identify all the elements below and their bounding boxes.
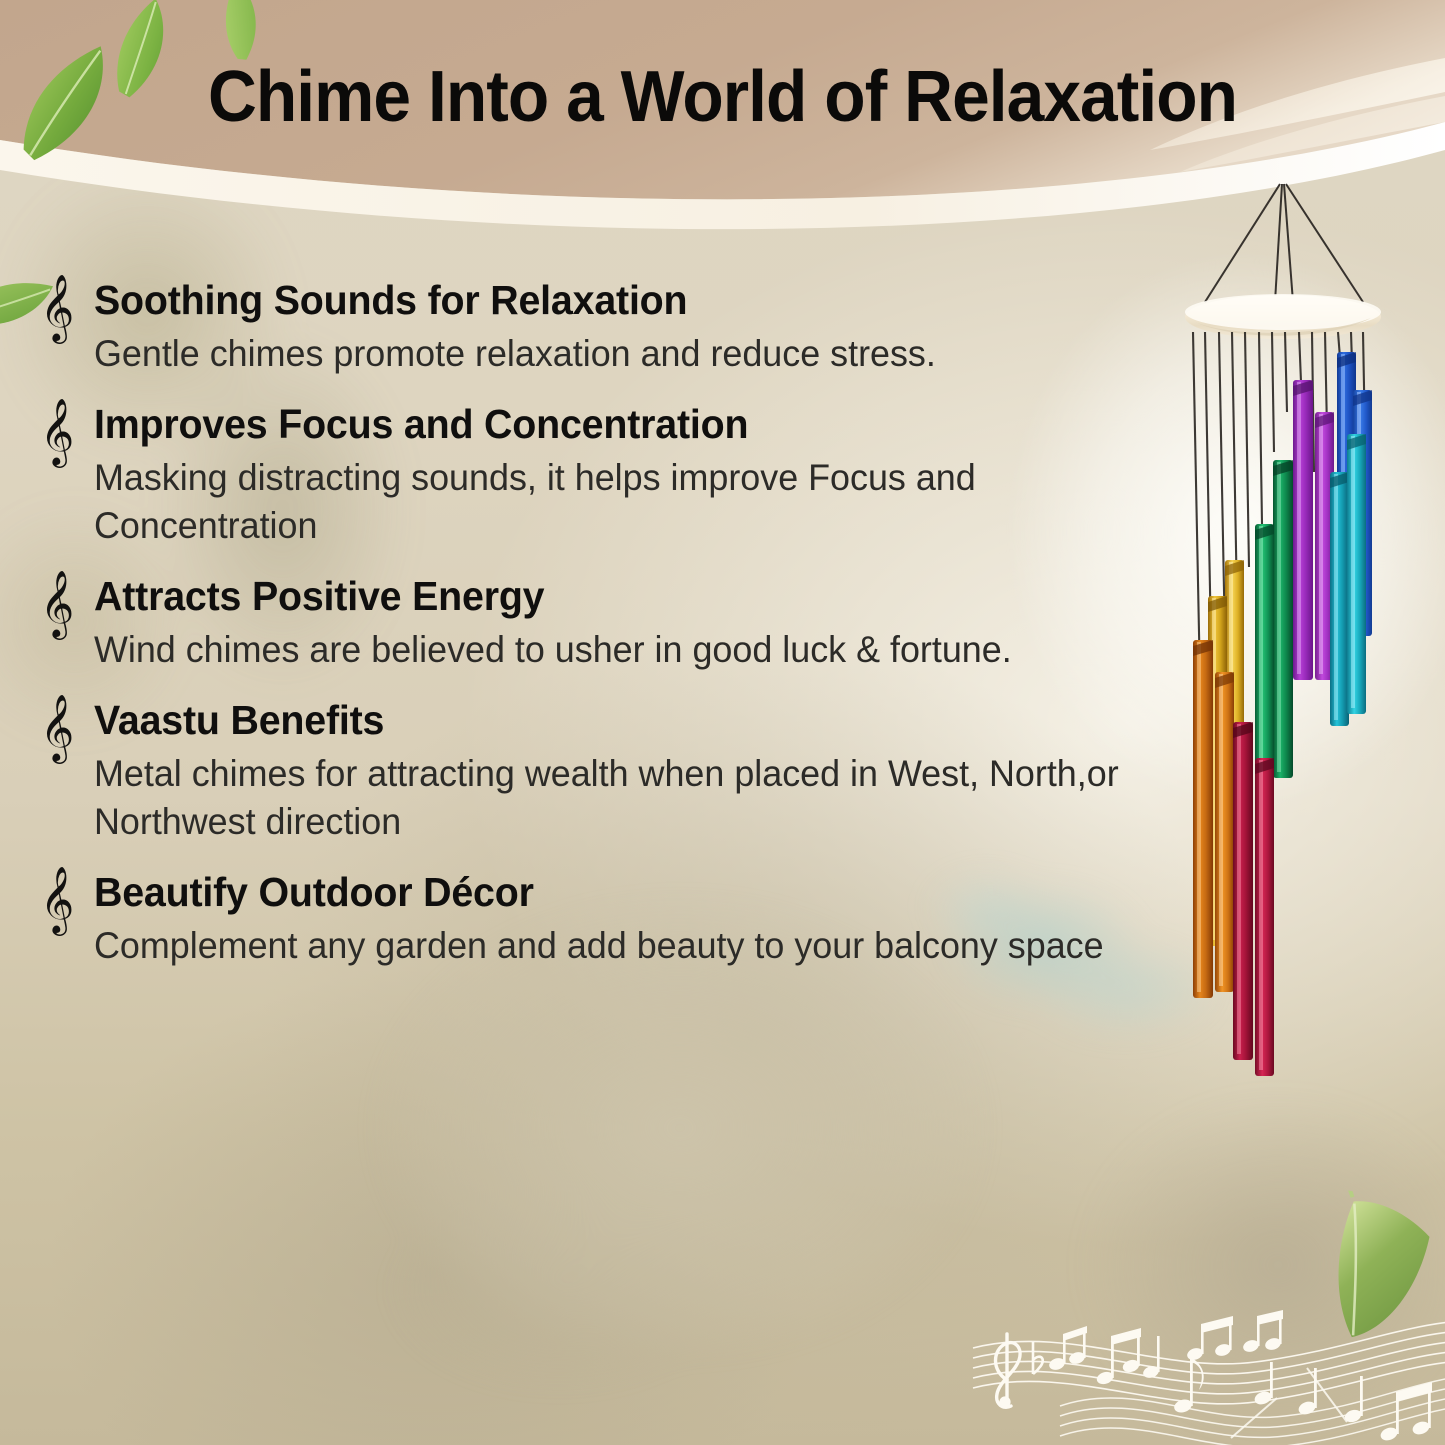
feature-title: Improves Focus and Concentration: [94, 402, 1219, 448]
chime-tube-green: [1255, 524, 1274, 792]
list-item: 𝄞 Attracts Positive Energy Wind chimes a…: [36, 574, 1266, 674]
chime-tube-cyan: [1330, 472, 1349, 726]
feature-description: Gentle chimes promote relaxation and red…: [94, 330, 1176, 378]
list-item: 𝄞 Soothing Sounds for Relaxation Gentle …: [36, 278, 1266, 378]
feature-title: Vaastu Benefits: [94, 698, 1219, 744]
treble-clef-icon: 𝄞: [40, 870, 74, 928]
treble-clef-icon: 𝄞: [40, 402, 74, 460]
list-item: 𝄞 Beautify Outdoor Décor Complement any …: [36, 870, 1266, 970]
product-image-wind-chime: [1175, 172, 1445, 1082]
chime-tube-orange: [1215, 672, 1234, 992]
feature-description: Complement any garden and add beauty to …: [94, 922, 1176, 970]
feature-title: Soothing Sounds for Relaxation: [94, 278, 1219, 324]
chime-tube-purple: [1293, 380, 1313, 680]
music-notes-icon: [955, 1310, 1445, 1445]
chime-tube-orange: [1193, 640, 1213, 998]
treble-clef-icon: 𝄞: [40, 278, 74, 336]
page-title: Chime Into a World of Relaxation: [43, 60, 1401, 136]
chime-tube-cyan: [1347, 434, 1366, 714]
product-infographic: Chime Into a World of Relaxation: [0, 0, 1445, 1445]
chime-tube-red: [1233, 722, 1253, 1060]
list-item: 𝄞 Improves Focus and Concentration Maski…: [36, 402, 1266, 550]
feature-description: Metal chimes for attracting wealth when …: [94, 750, 1176, 846]
feature-list: 𝄞 Soothing Sounds for Relaxation Gentle …: [36, 278, 1266, 994]
chime-tube-red: [1255, 758, 1274, 1076]
treble-clef-icon: 𝄞: [40, 698, 74, 756]
list-item: 𝄞 Vaastu Benefits Metal chimes for attra…: [36, 698, 1266, 846]
feature-title: Attracts Positive Energy: [94, 574, 1219, 620]
feature-description: Masking distracting sounds, it helps imp…: [94, 454, 1176, 550]
feature-title: Beautify Outdoor Décor: [94, 870, 1219, 916]
chime-tube-green: [1273, 460, 1293, 778]
feature-description: Wind chimes are believed to usher in goo…: [94, 626, 1176, 674]
treble-clef-icon: 𝄞: [40, 574, 74, 632]
